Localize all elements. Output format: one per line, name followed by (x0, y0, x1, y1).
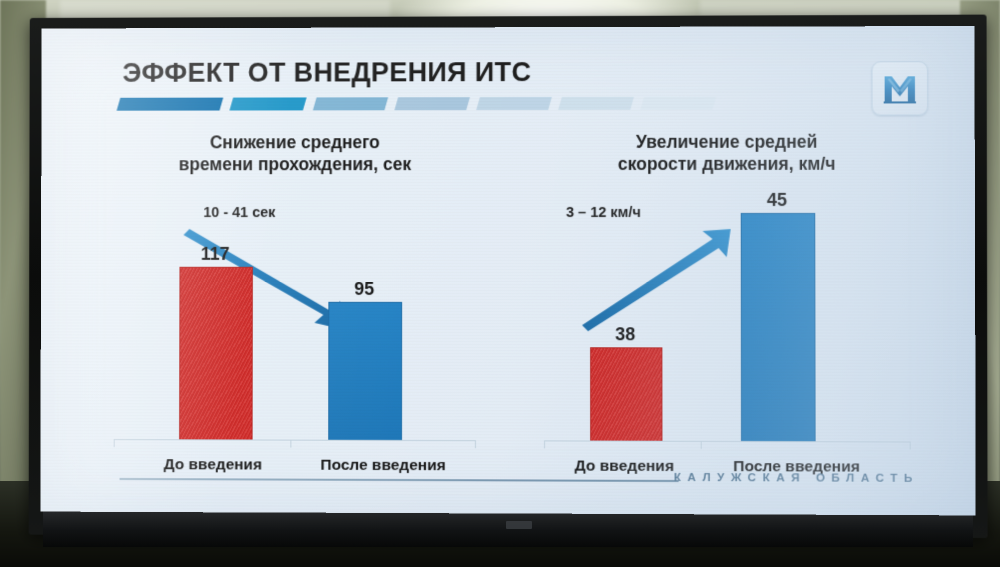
footer-region-label: КАЛУЖСКАЯ ОБЛАСТЬ (674, 472, 919, 485)
chart-left-title: Снижение среднего времени прохождения, с… (106, 131, 484, 176)
display-monitor: ЭФФЕКТ ОТ ВНЕДРЕНИЯ ИТС (26, 16, 984, 536)
bar-before-left (179, 267, 253, 441)
bar-value-before-right: 38 (590, 324, 660, 345)
chart-right-title: Увеличение средней скорости движения, км… (536, 131, 918, 176)
chart-left-tick-start (114, 440, 115, 447)
chart-right-plot: 38 45 До введения После введения (536, 195, 919, 483)
monitor-brand-logo (506, 521, 532, 529)
chart-time-reduction: Снижение среднего времени прохождения, с… (106, 131, 484, 481)
chart-left-title-line1: Снижение среднего (106, 131, 484, 154)
bar-value-after-left: 95 (328, 279, 400, 300)
chart-left-axis (114, 439, 476, 441)
accent-segment-6 (558, 97, 634, 110)
chart-left-category-before: До введения (133, 456, 292, 475)
logo-m-icon (883, 72, 917, 104)
accent-segment-7 (640, 97, 716, 110)
accent-segment-5 (476, 97, 552, 110)
chart-right-axis (544, 440, 911, 442)
chart-right-tick-end (910, 443, 911, 450)
accent-segment-1 (117, 98, 224, 111)
chart-left-tick-mid (290, 441, 291, 448)
monitor-bezel-bottom (43, 511, 973, 547)
accent-segment-4 (394, 97, 470, 110)
bar-value-before-left: 117 (179, 244, 250, 265)
chart-right-tick-start (544, 441, 545, 448)
page-title: ЭФФЕКТ ОТ ВНЕДРЕНИЯ ИТС (122, 57, 531, 89)
chart-right-tick-mid (701, 442, 702, 449)
chart-right-title-line1: Увеличение средней (536, 131, 918, 154)
chart-left-tick-end (475, 441, 476, 448)
chart-left-title-line2: времени прохождения, сек (106, 153, 484, 176)
presentation-slide: ЭФФЕКТ ОТ ВНЕДРЕНИЯ ИТС (40, 26, 975, 515)
accent-segment-2 (229, 97, 306, 110)
accent-segment-3 (313, 97, 388, 110)
bar-after-left (328, 302, 402, 441)
bar-value-after-right: 45 (741, 190, 814, 211)
bar-after-right (741, 213, 816, 442)
chart-left-category-after: После введения (288, 457, 478, 476)
logo-m-badge (871, 61, 928, 115)
chart-speed-increase: Увеличение средней скорости движения, км… (536, 131, 919, 483)
chart-right-title-line2: скорости движения, км/ч (536, 153, 918, 176)
chart-left-plot: 117 95 До введения После введения (106, 195, 484, 481)
monitor-screen: ЭФФЕКТ ОТ ВНЕДРЕНИЯ ИТС (40, 26, 975, 515)
room-photo-backdrop: ЭФФЕКТ ОТ ВНЕДРЕНИЯ ИТС (0, 0, 1000, 567)
bar-before-right (590, 347, 662, 442)
